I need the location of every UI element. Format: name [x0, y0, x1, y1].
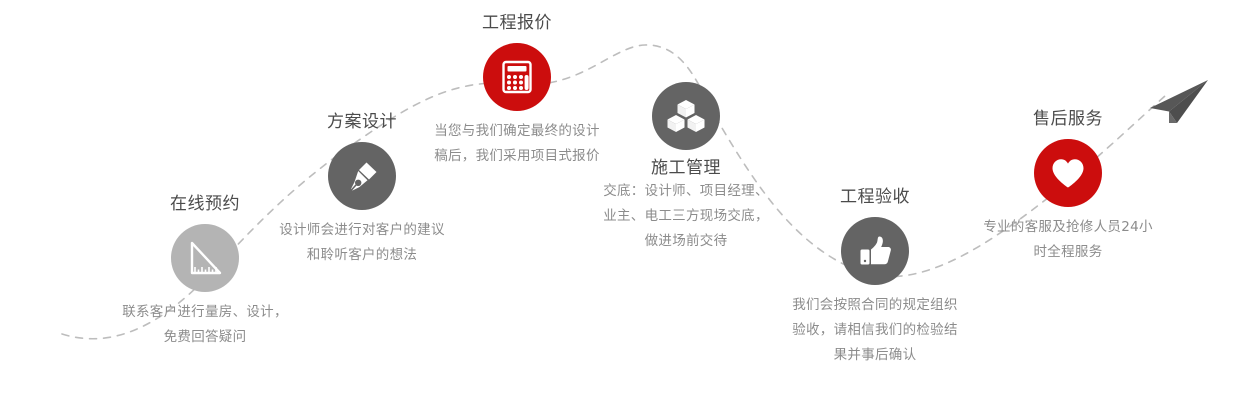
fountain-pen-icon-circle: [328, 142, 396, 210]
step-description: 专业的客服及抢修人员24小时全程服务: [983, 215, 1153, 265]
process-step-3[interactable]: 工程报价 当您与我们确定最终的设: [432, 12, 602, 169]
step-description: 我们会按照合同的规定组织验收，请相信我们的检验结果并事后确认: [790, 293, 960, 368]
step-title: 工程验收: [790, 186, 960, 208]
boxes-icon-circle: [652, 82, 720, 150]
heart-icon-circle: [1034, 139, 1102, 207]
step-description: 交底：设计师、项目经理、业主、电工三方现场交底，做进场前交待: [601, 179, 771, 254]
step-description: 设计师会进行对客户的建议和聆听客户的想法: [277, 218, 447, 268]
thumbs-up-icon-circle: [841, 217, 909, 285]
paper-plane-icon-wrap: [1146, 78, 1212, 134]
triangle-ruler-icon-circle: [171, 224, 239, 292]
process-step-1[interactable]: 在线预约 联系客户进行量房、设计，免费回答疑问: [120, 193, 290, 350]
process-step-6[interactable]: 售后服务 专业的客服及抢修人员24小时全程服务: [983, 108, 1153, 265]
fountain-pen-icon: [342, 156, 382, 196]
paper-plane-icon: [1146, 78, 1212, 130]
boxes-icon: [665, 95, 707, 137]
step-title: 售后服务: [983, 108, 1153, 130]
step-title: 方案设计: [277, 111, 447, 133]
step-title: 工程报价: [432, 12, 602, 34]
thumbs-up-icon: [855, 231, 895, 271]
calculator-icon-circle: [483, 43, 551, 111]
triangle-ruler-icon: [185, 238, 225, 278]
process-step-5[interactable]: 工程验收 我们会按照合同的规定组织验收，请相信我们的检验结果并事后确认: [790, 186, 960, 368]
process-step-2[interactable]: 方案设计 设计师会进行对客户的建议和聆听客户的想法: [277, 111, 447, 268]
step-title: 在线预约: [120, 193, 290, 215]
step-description: 当您与我们确定最终的设计稿后，我们采用项目式报价: [432, 119, 602, 169]
calculator-icon: [497, 57, 537, 97]
service-process-flow: 在线预约 联系客户进行量房、设计，免费回答疑问 方案设计: [0, 0, 1245, 402]
step-description: 联系客户进行量房、设计，免费回答疑问: [120, 300, 290, 350]
process-step-4[interactable]: 施工管理 交底：设计师、项目经理、业主、电工三方现场交底，做进场前交待: [601, 82, 771, 254]
heart-icon: [1048, 153, 1088, 193]
step-title: 施工管理: [601, 157, 771, 179]
